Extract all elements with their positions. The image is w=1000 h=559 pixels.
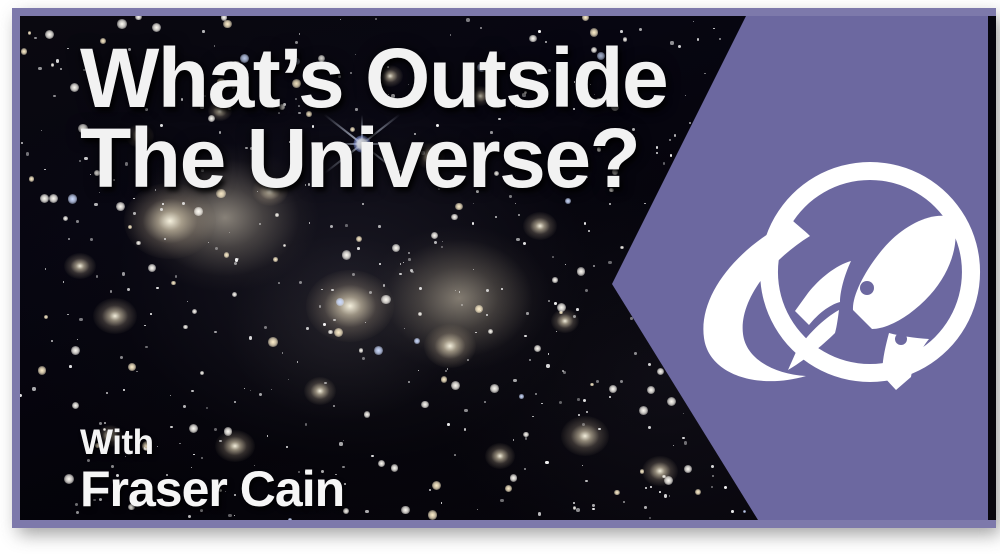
byline-block: With Fraser Cain [80,424,344,516]
byline-presenter-name: Fraser Cain [80,462,344,516]
title-block: What’s Outside The Universe? [80,38,667,198]
thumbnail-artwork: What’s Outside The Universe? With Fraser… [20,16,996,520]
thumbnail-stage: What’s Outside The Universe? With Fraser… [0,0,1000,559]
title-line-2: The Universe? [80,118,667,198]
universe-today-rocket-logo-icon[interactable] [696,152,986,400]
video-thumbnail-card[interactable]: What’s Outside The Universe? With Fraser… [12,8,996,528]
byline-prefix: With [80,424,344,462]
title-line-1: What’s Outside [80,38,667,118]
